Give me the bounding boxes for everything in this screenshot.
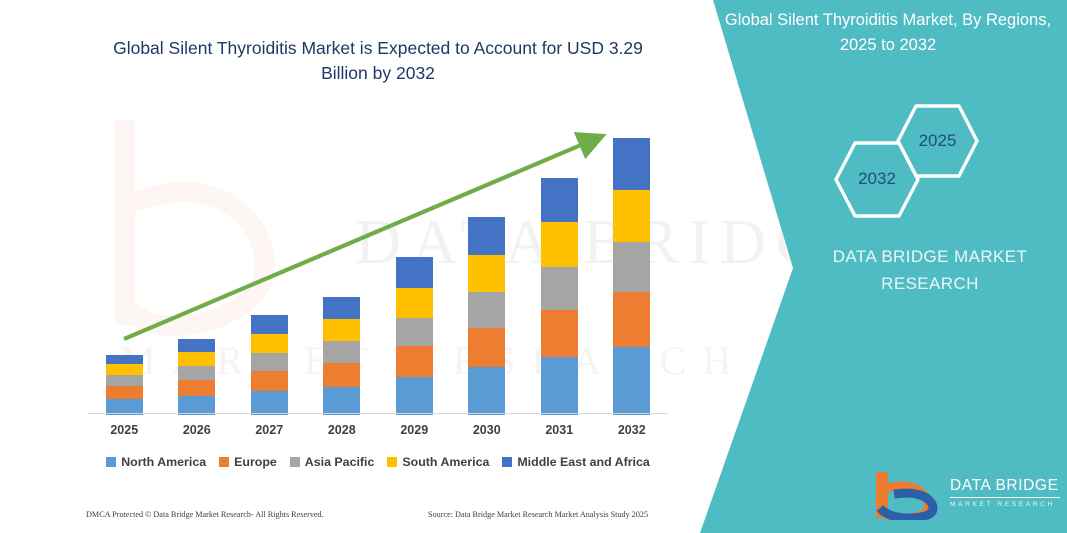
- bar-segment: [396, 318, 433, 346]
- legend-item[interactable]: Middle East and Africa: [502, 455, 649, 469]
- legend-item[interactable]: North America: [106, 455, 206, 469]
- x-axis-label: 2029: [378, 423, 450, 437]
- x-axis-label: 2025: [88, 423, 160, 437]
- bar-2028: [323, 297, 360, 415]
- bar-segment: [541, 310, 578, 357]
- x-axis-label: 2026: [161, 423, 233, 437]
- footer-source: Source: Data Bridge Market Research Mark…: [428, 510, 648, 519]
- bar-segment: [541, 178, 578, 222]
- legend-label: Middle East and Africa: [517, 455, 649, 469]
- bar-segment: [396, 346, 433, 377]
- bar-2025: [106, 355, 143, 415]
- bar-segment: [613, 190, 650, 242]
- bar-segment: [468, 367, 505, 415]
- page-title: Global Silent Thyroiditis Market is Expe…: [88, 36, 668, 86]
- legend-swatch: [290, 457, 300, 467]
- bar-segment: [178, 366, 215, 380]
- bar-segment: [106, 386, 143, 399]
- legend-swatch: [502, 457, 512, 467]
- bar-segment: [178, 380, 215, 396]
- bar-segment: [323, 341, 360, 363]
- bar-segment: [396, 288, 433, 318]
- bar-segment: [468, 292, 505, 328]
- bar-segment: [613, 292, 650, 347]
- bar-segment: [323, 387, 360, 415]
- bar-segment: [323, 363, 360, 387]
- bar-segment: [613, 138, 650, 190]
- bar-segment: [396, 257, 433, 288]
- logo-name: DATA BRIDGE: [950, 477, 1060, 498]
- bar-2032: [613, 138, 650, 415]
- x-axis-label: 2028: [306, 423, 378, 437]
- bar-segment: [541, 357, 578, 415]
- bar-segment: [613, 242, 650, 292]
- bar-2026: [178, 339, 215, 415]
- footer: DMCA Protected © Data Bridge Market Rese…: [0, 505, 700, 527]
- legend-item[interactable]: Europe: [219, 455, 277, 469]
- bar-segment: [613, 347, 650, 415]
- bar-segment: [468, 328, 505, 367]
- bar-segment: [251, 353, 288, 371]
- bar-2031: [541, 178, 578, 415]
- bar-segment: [106, 364, 143, 375]
- x-axis-label: 2032: [596, 423, 668, 437]
- bar-segment: [251, 315, 288, 334]
- legend-label: Asia Pacific: [305, 455, 375, 469]
- x-axis-label: 2031: [523, 423, 595, 437]
- bar-segment: [251, 334, 288, 353]
- x-axis-labels: 20252026202720282029203020312032: [88, 423, 668, 445]
- bar-segment: [323, 297, 360, 319]
- bar-segment: [541, 222, 578, 267]
- panel-heading: Global Silent Thyroiditis Market, By Reg…: [718, 8, 1058, 58]
- stacked-bar-chart: [88, 120, 668, 415]
- bar-segment: [178, 352, 215, 366]
- logo-wordmark: DATA BRIDGE MARKET RESEARCH: [950, 477, 1060, 508]
- bar-segment: [323, 319, 360, 341]
- panel-brand-line: DATA BRIDGE MARKET RESEARCH: [800, 243, 1060, 297]
- infographic-canvas: DATA BRIDGE MARKET RESEARCH Global Silen…: [0, 0, 1067, 533]
- bar-segment: [468, 255, 505, 292]
- bar-segment: [251, 391, 288, 415]
- bar-segment: [251, 371, 288, 391]
- legend-swatch: [219, 457, 229, 467]
- bar-segment: [178, 339, 215, 352]
- bar-segment: [106, 375, 143, 386]
- bar-2029: [396, 257, 433, 415]
- legend-label: Europe: [234, 455, 277, 469]
- legend-item[interactable]: Asia Pacific: [290, 455, 375, 469]
- legend-label: North America: [121, 455, 206, 469]
- bar-segment: [541, 267, 578, 310]
- x-axis-label: 2030: [451, 423, 523, 437]
- legend-swatch: [387, 457, 397, 467]
- logo-tagline: MARKET RESEARCH: [950, 501, 1060, 508]
- legend-label: South America: [402, 455, 489, 469]
- bar-2030: [468, 217, 505, 415]
- x-axis-line: [88, 413, 668, 414]
- legend-item[interactable]: South America: [387, 455, 489, 469]
- bar-segment: [396, 377, 433, 415]
- bar-segment: [468, 217, 505, 255]
- hexagon-start-year-label: 2025: [895, 131, 980, 151]
- hexagon-badge-start-year: 2025: [895, 103, 980, 179]
- bar-segment: [106, 355, 143, 364]
- footer-copyright: DMCA Protected © Data Bridge Market Rese…: [86, 510, 324, 519]
- chart-legend: North AmericaEuropeAsia PacificSouth Ame…: [88, 455, 668, 469]
- bar-2027: [251, 315, 288, 415]
- x-axis-label: 2027: [233, 423, 305, 437]
- legend-swatch: [106, 457, 116, 467]
